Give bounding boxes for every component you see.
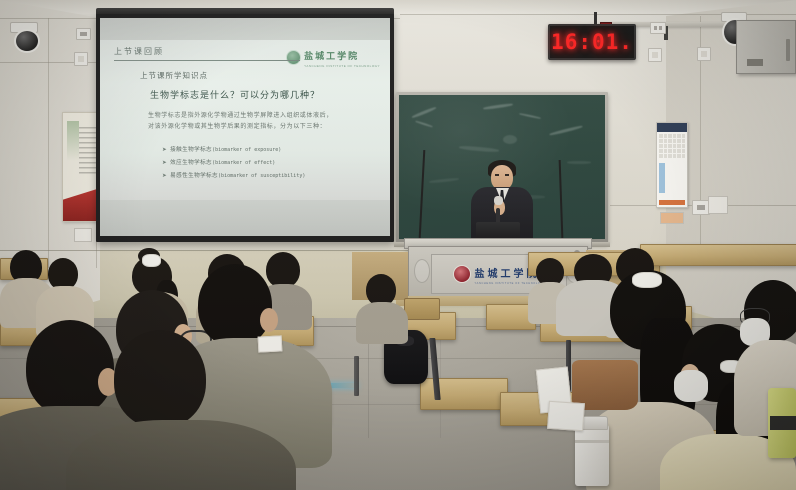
lecturer-eye <box>505 174 509 176</box>
clock-minutes: 01 <box>592 30 619 54</box>
slide-paragraph-line-1: 生物学标志是指外源化学物通过生物学屏障进入组织或体液后， <box>148 110 378 121</box>
podium-logo-mark-icon <box>453 265 471 283</box>
clock-trailing-dot: . <box>619 30 633 54</box>
screen-dead-band-top <box>100 18 390 40</box>
student-seated <box>356 274 408 338</box>
clock-bracket <box>594 12 597 24</box>
slide-bullet-list: ➤接触生物学标志(biomarker of exposure) ➤效应生物学标志… <box>162 144 305 183</box>
seat-back <box>404 298 440 320</box>
digital-wall-clock: 16 : 01 . <box>548 24 636 60</box>
light-switch[interactable] <box>648 48 662 62</box>
classroom-photo: 16 : 01 . <box>0 0 796 490</box>
screen-surface: 上节课回顾 盐城工学院 YANCHENG INSTITUTE OF TECHNO… <box>100 18 390 236</box>
pull-down-projection-screen: 上节课回顾 盐城工学院 YANCHENG INSTITUTE OF TECHNO… <box>96 14 394 242</box>
logo-mark-icon <box>286 50 301 65</box>
power-outlet[interactable] <box>76 28 91 40</box>
slide-bullet-item: ➤接触生物学标志(biomarker of exposure) <box>162 144 305 157</box>
power-outlet[interactable] <box>650 22 666 34</box>
notebook-paper <box>258 335 283 352</box>
logo-subtitle: YANCHENG INSTITUTE OF TECHNOLOGY <box>304 64 380 68</box>
wall-seam <box>48 18 49 268</box>
bullet-marker-icon: ➤ <box>162 160 167 166</box>
microphone-head-icon <box>494 196 503 205</box>
bullet-cn: 效应生物学标志 <box>170 160 212 166</box>
class-schedule-board <box>656 122 688 208</box>
bullet-en: (biomarker of exposure) <box>212 147 281 153</box>
slide-bullet-item: ➤易感性生物学标志(biomarker of susceptibility) <box>162 170 305 183</box>
bullet-marker-icon: ➤ <box>162 147 167 153</box>
clock-separator: : <box>578 30 592 54</box>
student-seated <box>80 330 280 490</box>
white-thermos <box>575 424 609 486</box>
face-mask <box>674 370 708 402</box>
bullet-cn: 易感性生物学标志 <box>170 173 218 179</box>
bullet-en: (biomarker of susceptibility) <box>218 173 305 179</box>
slide-title-rule <box>114 60 300 61</box>
wall-plate <box>74 228 92 242</box>
lecturer-eye <box>495 174 499 176</box>
bullet-cn: 接触生物学标志 <box>170 147 212 153</box>
clock-hours: 16 <box>551 30 578 54</box>
notice-strip <box>660 212 684 224</box>
screen-dead-band-bottom <box>100 200 390 236</box>
slide-paragraph-line-2: 对该外源化学物或其生物学后果的测定指标，分为以下三种： <box>148 121 378 132</box>
bottle-label <box>770 416 796 430</box>
slide-bullet-item: ➤效应生物学标志(biomarker of effect) <box>162 157 305 170</box>
thermos-band <box>575 440 609 443</box>
slide-content: 上节课回顾 盐城工学院 YANCHENG INSTITUTE OF TECHNO… <box>100 40 390 200</box>
wall-switch-plate[interactable] <box>708 196 728 214</box>
slide-university-logo: 盐城工学院 YANCHENG INSTITUTE OF TECHNOLOGY <box>286 46 380 68</box>
light-switch[interactable] <box>697 47 711 61</box>
wall-electrical-cabinet <box>736 20 796 74</box>
slide-question: 生物学标志是什么？可以分为哪几种？ <box>150 88 320 101</box>
notebook-paper <box>547 401 585 431</box>
dome-security-camera-left <box>8 22 42 56</box>
slide-header-title: 上节课回顾 <box>114 46 164 57</box>
desk-leg <box>354 356 359 396</box>
podium-side-emblem <box>414 259 430 283</box>
student-ear <box>260 308 278 332</box>
light-switch[interactable] <box>74 52 88 66</box>
slide-subtitle: 上节课所学知识点 <box>140 70 208 81</box>
bullet-marker-icon: ➤ <box>162 173 167 179</box>
logo-name: 盐城工学院 <box>304 52 359 62</box>
slide-paragraph: 生物学标志是指外源化学物通过生物学屏障进入组织或体液后， 对该外源化学物或其生物… <box>148 110 378 132</box>
bullet-en: (biomarker of effect) <box>212 160 275 166</box>
